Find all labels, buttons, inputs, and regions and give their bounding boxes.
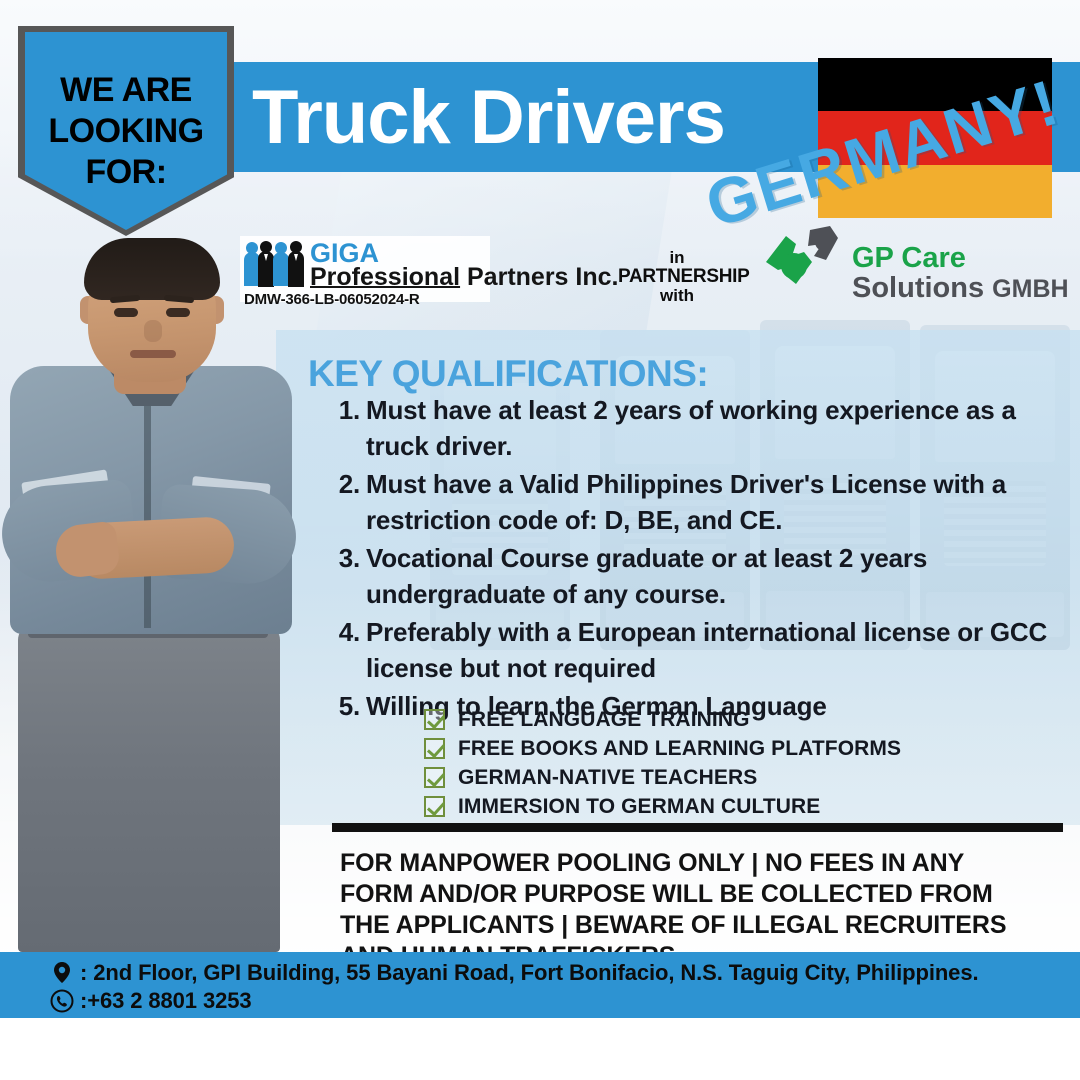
location-pin-icon [48,960,76,986]
puzzle-link-icon [752,222,852,308]
qualifications-heading: KEY QUALIFICATIONS: [308,352,708,396]
perk-label: IMMERSION TO GERMAN CULTURE [458,794,820,819]
footer-phone: :+63 2 8801 3253 [80,988,252,1014]
partnership-line-1: in [618,248,736,267]
gp-care-line-1: GP Care [852,242,966,274]
banner-label: WE ARE LOOKING FOR: [25,70,227,193]
section-divider [332,823,1063,832]
perk-label: FREE LANGUAGE TRAINING [458,707,750,732]
list-item: IMMERSION TO GERMAN CULTURE [424,794,984,819]
footer-bar: : 2nd Floor, GPI Building, 55 Bayani Roa… [0,952,1080,1018]
perks-checklist: FREE LANGUAGE TRAINING FREE BOOKS AND LE… [424,707,984,823]
gp-care-line-2: Solutions GMBH [852,272,1069,305]
giga-subtitle-rest: Partners Inc. [460,263,618,291]
banner-line-1: WE ARE [25,70,227,111]
list-item-text: Must have at least 2 years of working ex… [366,392,1062,464]
footer-address: : 2nd Floor, GPI Building, 55 Bayani Roa… [80,960,978,986]
list-item-text: Vocational Course graduate or at least 2… [366,540,1062,612]
address-row: : 2nd Floor, GPI Building, 55 Bayani Roa… [48,960,978,986]
perk-label: GERMAN-NATIVE TEACHERS [458,765,757,790]
phone-icon [48,988,76,1014]
partnership-line-3: with [618,286,736,305]
giga-subtitle: Professional Partners Inc. [310,262,618,292]
list-item: GERMAN-NATIVE TEACHERS [424,765,984,790]
checkbox-checked-icon [424,738,445,759]
list-item: 2. Must have a Valid Philippines Driver'… [332,466,1062,538]
list-item: FREE BOOKS AND LEARNING PLATFORMS [424,736,984,761]
list-item-text: Must have a Valid Philippines Driver's L… [366,466,1062,538]
phone-row: :+63 2 8801 3253 [48,988,252,1014]
checkbox-checked-icon [424,796,445,817]
banner-line-2: LOOKING [25,111,227,152]
list-item: FREE LANGUAGE TRAINING [424,707,984,732]
list-item-text: Preferably with a European international… [366,614,1062,686]
job-ad-poster: Truck Drivers GERMANY! WE ARE LOOKING FO… [0,0,1080,1080]
we-are-looking-for-banner: WE ARE LOOKING FOR: [18,26,234,236]
list-item: 4. Preferably with a European internatio… [332,614,1062,686]
qualifications-list: 1. Must have at least 2 years of working… [332,392,1062,726]
list-item: 1. Must have at least 2 years of working… [332,392,1062,464]
list-item: 3. Vocational Course graduate or at leas… [332,540,1062,612]
page-title: Truck Drivers [252,68,725,168]
gp-care-logo: GP Care Solutions GMBH [752,222,1062,312]
gp-care-solutions: Solutions [852,272,984,304]
gp-care-gmbh: GMBH [992,275,1068,303]
partnership-line-2: PARTNERSHIP [618,267,736,286]
checkbox-checked-icon [424,767,445,788]
checkbox-checked-icon [424,709,445,730]
truck-driver-photo [0,238,342,952]
partnership-label: in PARTNERSHIP with [618,248,736,305]
banner-line-3: FOR: [25,152,227,193]
perk-label: FREE BOOKS AND LEARNING PLATFORMS [458,736,901,761]
